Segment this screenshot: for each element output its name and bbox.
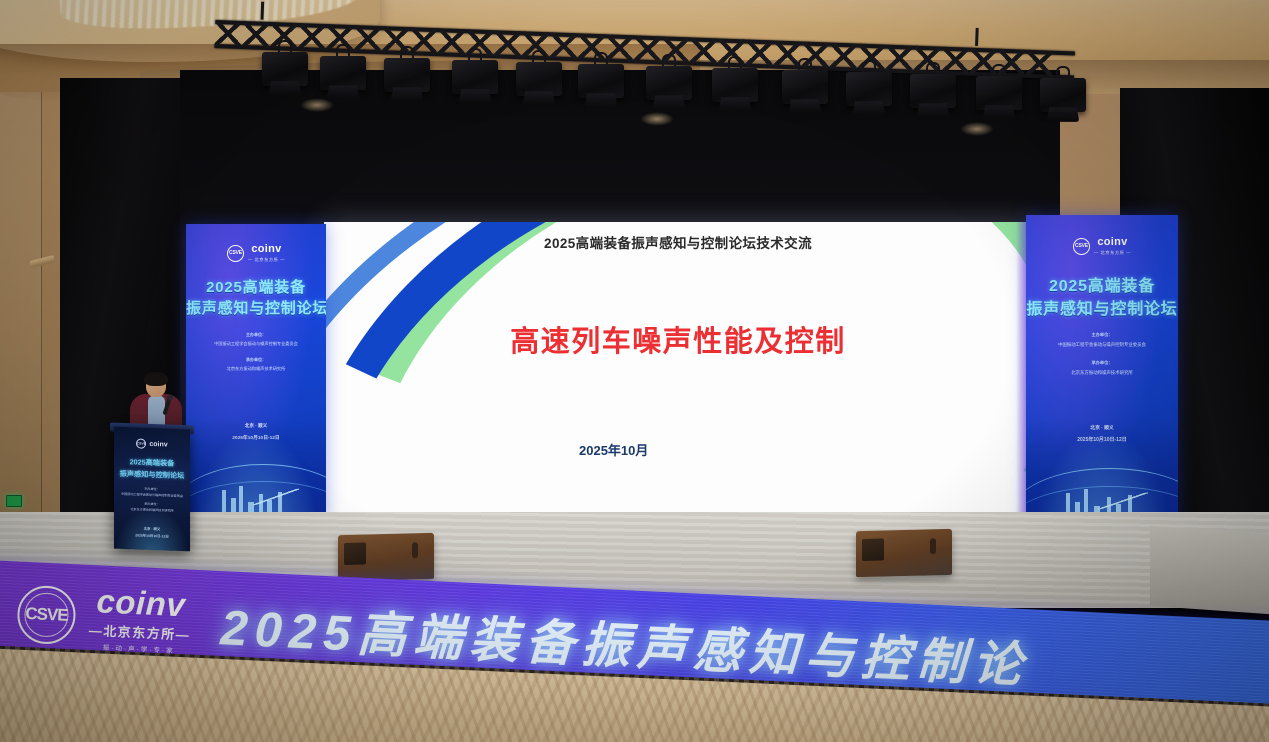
stage-edge-right [1150,526,1269,614]
led-brand-name: coinv [96,584,186,621]
stage-light [578,64,624,98]
banner-brand-cn: — 北京东方所 — [1094,250,1131,256]
stage-light [976,76,1022,110]
slide-date: 2025年10月 [579,440,648,459]
truss-brace [215,20,242,47]
truss-brace [606,34,633,61]
light-yoke-icon [662,54,676,66]
light-yoke-icon [468,48,482,60]
stage-light [384,58,430,92]
light-yoke-icon [594,52,608,64]
led-brand-block: coinv —北京东方所— 振·动·声·学·专·家 [88,583,193,655]
exit-sign [6,495,22,507]
truss-brace [942,47,969,74]
banner-host-label: 主办单位： [186,332,326,338]
banner-heading-line1: 2025高端装备 [186,276,326,297]
light-yoke-icon [926,62,940,74]
truss-brace [634,35,661,62]
banner-brand-cn: — 北京东方所 — [248,257,285,263]
truss-brace [830,43,857,70]
truss-brace [690,37,717,64]
banner-skyline-graphic [1026,420,1178,525]
stage-light [846,72,892,106]
banner-organizer-label: 承办单位： [1026,360,1178,366]
spot-beam [960,122,994,136]
truss-brace [494,30,521,57]
stage-light [1040,78,1086,112]
rollup-banner-left: CSVE coinv — 北京东方所 — 2025高端装备 振声感知与控制论坛 … [186,224,326,520]
light-yoke-icon [862,60,876,72]
banner-organizer-name: 北京东方振动和噪声技术研究所 [1026,370,1178,376]
presentation-screen: 2025高端装备振声感知与控制论坛技术交流 高速列车噪声性能及控制 2025年1… [324,222,1032,517]
light-yoke-icon [336,44,350,56]
stage-light [646,66,692,100]
spot-beam [640,112,674,126]
light-yoke-icon [532,50,546,62]
stage-light [910,74,956,108]
truss-brace [354,25,381,52]
csve-seal-icon: CSVE [1073,238,1090,255]
led-brand-cn: —北京东方所— [88,619,190,643]
truss-brace [298,23,325,50]
rollup-banner-right: CSVE coinv — 北京东方所 — 2025高端装备 振声感知与控制论坛 … [1026,215,1178,525]
stage-light [712,68,758,102]
banner-brand: coinv [251,244,281,255]
banner-host-name: 中国振动工程学会振动与噪声控制专业委员会 [1026,342,1178,348]
csve-seal-icon: CSVE [136,438,146,448]
truss-brace [550,32,577,59]
csve-seal-icon: CSVE [227,245,244,262]
speaker-hair [144,372,168,386]
truss-brace [243,21,270,48]
banner-heading-line1: 2025高端装备 [1026,272,1178,296]
banner-brand: coinv [1097,237,1127,248]
csve-seal-label: CSVE [25,604,68,626]
stage-light [782,70,828,104]
truss-brace [438,28,465,55]
stage-light [452,60,498,94]
podium-skyline-glow [114,505,190,552]
truss-brace [746,40,773,67]
slide-title: 高速列车噪声性能及控制 [324,318,1032,360]
banner-heading-line2: 振声感知与控制论坛 [1026,295,1178,319]
podium-logo: CSVE coinv [114,438,190,451]
banner-organizer-label: 承办单位： [186,357,326,363]
stage-light [516,62,562,96]
light-yoke-icon [798,58,812,70]
banner-organizer-name: 北京东方振动和噪声技术研究所 [186,366,326,372]
stage-monitor-right [856,529,952,577]
stage-monitor-left [338,533,434,581]
podium-heading-line2: 振声感知与控制论坛 [114,469,190,482]
banner-host-name: 中国振动工程学会振动与噪声控制专业委员会 [186,341,326,347]
csve-seal-icon: CSVE [16,585,77,646]
banner-host-label: 主办单位： [1026,332,1178,338]
light-yoke-icon [278,40,292,52]
banner-logo: CSVE coinv — 北京东方所 — [1026,237,1178,256]
podium-brand: coinv [149,440,167,448]
conference-stage-photo: 2025高端装备振声感知与控制论坛技术交流 高速列车噪声性能及控制 2025年1… [0,0,1269,742]
light-yoke-icon [1056,66,1070,78]
light-yoke-icon [400,46,414,58]
stage-light [320,56,366,90]
podium: CSVE coinv 2025高端装备 振声感知与控制论坛 主办单位： 中国振动… [114,427,190,552]
stage-light [262,52,308,86]
slide-header: 2025高端装备振声感知与控制论坛技术交流 [324,232,1032,252]
truss-brace [886,45,913,72]
light-yoke-icon [992,64,1006,76]
truss-brace [1026,50,1053,77]
truss-brace [410,27,437,54]
slide-swoosh-blue [324,222,1032,517]
light-yoke-icon [728,56,742,68]
banner-heading-line2: 振声感知与控制论坛 [186,297,326,318]
podium-heading-line1: 2025高端装备 [114,457,190,470]
banner-skyline-graphic [186,419,326,520]
spot-beam [300,98,334,112]
banner-logo: CSVE coinv — 北京东方所 — [186,244,326,263]
